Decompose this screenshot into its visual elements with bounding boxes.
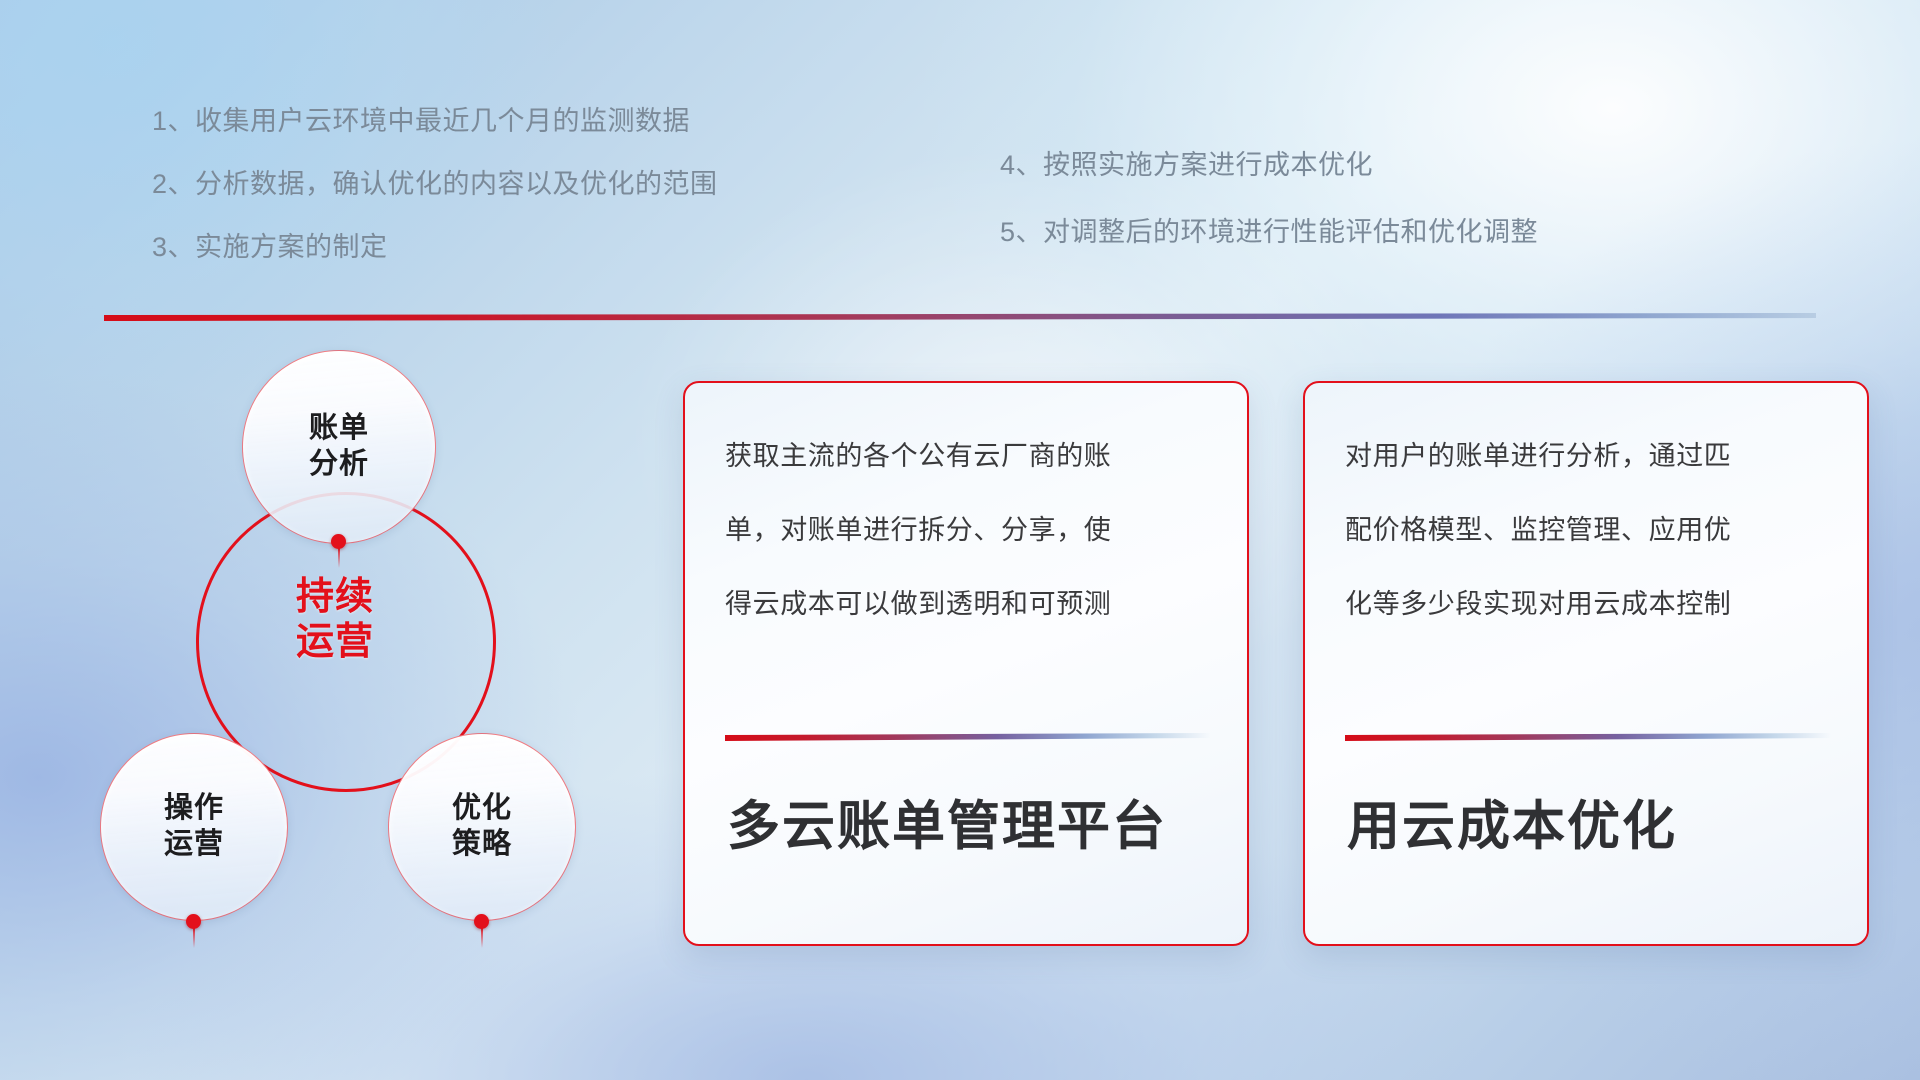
card-2-body-line1: 对用户的账单进行分析，通过匹 (1345, 443, 1833, 470)
card-1-body-line3: 得云成本可以做到透明和可预测 (725, 591, 1213, 618)
bubble-optimization-strategy-line2: 策略 (452, 827, 512, 863)
step-item-4: 4、按照实施方案进行成本优化 (1000, 152, 1538, 179)
card-2-body-line3: 化等多少段实现对用云成本控制 (1345, 591, 1833, 618)
bubble-operations-label: 操作 运营 (164, 791, 224, 863)
node-dot-top (331, 534, 346, 549)
bubble-operations[interactable]: 操作 运营 (100, 733, 288, 921)
center-ring-label-line1: 持续 (296, 575, 456, 620)
node-tail-bottom-right (481, 926, 483, 948)
steps-left-column: 1、收集用户云环境中最近几个月的监测数据 2、分析数据，确认优化的内容以及优化的… (152, 108, 718, 297)
node-tail-bottom-left (193, 926, 195, 948)
center-ring-label-line2: 运营 (296, 620, 456, 665)
node-tail-top (338, 546, 340, 568)
slide-canvas: 1、收集用户云环境中最近几个月的监测数据 2、分析数据，确认优化的内容以及优化的… (0, 0, 1920, 1080)
card-2-body: 对用户的账单进行分析，通过匹 配价格模型、监控管理、应用优 化等多少段实现对用云… (1345, 443, 1833, 665)
bubble-optimization-strategy[interactable]: 优化 策略 (388, 733, 576, 921)
bubble-billing-analysis[interactable]: 账单 分析 (242, 350, 436, 544)
node-dot-bottom-left (186, 914, 201, 929)
bubble-optimization-strategy-line1: 优化 (452, 791, 512, 827)
card-1-divider (725, 733, 1211, 741)
bubble-billing-analysis-label: 账单 分析 (309, 411, 369, 483)
step-item-1: 1、收集用户云环境中最近几个月的监测数据 (152, 108, 718, 135)
card-1-body-line1: 获取主流的各个公有云厂商的账 (725, 443, 1213, 470)
card-2-body-line2: 配价格模型、监控管理、应用优 (1345, 517, 1833, 544)
node-dot-bottom-right (474, 914, 489, 929)
card-1-body: 获取主流的各个公有云厂商的账 单，对账单进行拆分、分享，使 得云成本可以做到透明… (725, 443, 1213, 665)
bubble-operations-line2: 运营 (164, 827, 224, 863)
bubble-billing-analysis-line1: 账单 (309, 411, 369, 447)
bubble-operations-line1: 操作 (164, 791, 224, 827)
step-item-5: 5、对调整后的环境进行性能评估和优化调整 (1000, 219, 1538, 246)
center-ring-label: 持续 运营 (296, 575, 456, 665)
bubble-optimization-strategy-label: 优化 策略 (452, 791, 512, 863)
bubble-billing-analysis-line2: 分析 (309, 447, 369, 483)
step-item-3: 3、实施方案的制定 (152, 234, 718, 261)
card-multi-cloud-billing-platform[interactable]: 获取主流的各个公有云厂商的账 单，对账单进行拆分、分享，使 得云成本可以做到透明… (683, 381, 1249, 946)
card-1-title: 多云账单管理平台 (727, 798, 1167, 856)
card-1-body-line2: 单，对账单进行拆分、分享，使 (725, 517, 1213, 544)
step-item-2: 2、分析数据，确认优化的内容以及优化的范围 (152, 171, 718, 198)
card-2-title: 用云成本优化 (1347, 798, 1677, 856)
card-2-divider (1345, 733, 1831, 741)
card-cloud-cost-optimization[interactable]: 对用户的账单进行分析，通过匹 配价格模型、监控管理、应用优 化等多少段实现对用云… (1303, 381, 1869, 946)
steps-right-column: 4、按照实施方案进行成本优化 5、对调整后的环境进行性能评估和优化调整 (1000, 152, 1538, 286)
continuous-operation-diagram: 持续 运营 账单 分析 操作 运营 优化 策略 (100, 350, 660, 950)
